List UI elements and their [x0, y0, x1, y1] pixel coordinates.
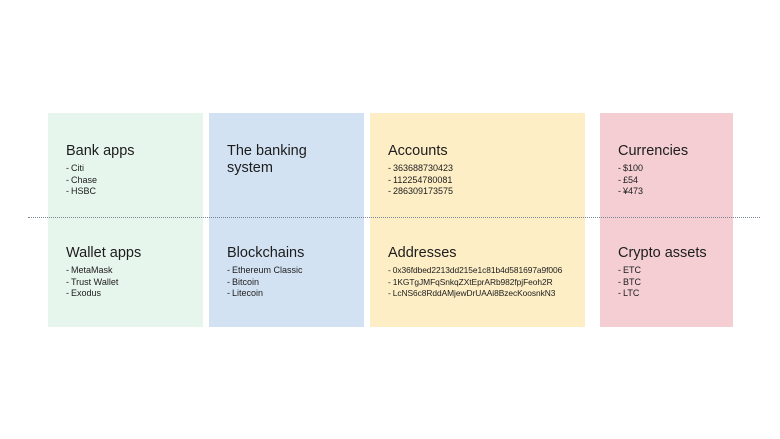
card-item-list: -0x36fdbed2213dd215e1c81b4d581697a9f006 …: [388, 265, 579, 300]
list-item-label: $100: [623, 163, 643, 173]
bullet-dash: -: [618, 265, 621, 277]
card-bank-apps: Bank apps -Citi -Chase -HSBC: [48, 113, 203, 217]
card-banking-system: The banking system: [209, 113, 364, 217]
bullet-dash: -: [618, 277, 621, 289]
card-blockchains: Blockchains -Ethereum Classic -Bitcoin -…: [209, 217, 364, 327]
bullet-dash: -: [66, 277, 69, 289]
list-item-label: 112254780081: [393, 175, 452, 185]
card-wallet-apps: Wallet apps -MetaMask -Trust Wallet -Exo…: [48, 217, 203, 327]
list-item: -¥473: [618, 186, 727, 198]
bullet-dash: -: [618, 186, 621, 198]
bullet-dash: -: [227, 277, 230, 289]
list-item: -Bitcoin: [227, 277, 358, 289]
card-title: Blockchains: [227, 245, 358, 262]
card-title: Bank apps: [66, 143, 197, 160]
list-item-label: Exodus: [71, 288, 101, 298]
list-item: -BTC: [618, 277, 727, 289]
list-item-label: 363688730423: [393, 163, 453, 173]
card-item-list: -MetaMask -Trust Wallet -Exodus: [66, 265, 197, 300]
bullet-dash: -: [227, 288, 230, 300]
list-item-label: LcNS6c8RddAMjewDrUAAi8BzecKoosnkN3: [393, 288, 556, 298]
list-item: -1KGTgJMFqSnkqZXtEprARb982fpjFeoh2R: [388, 277, 579, 289]
list-item: -Ethereum Classic: [227, 265, 358, 277]
bullet-dash: -: [66, 163, 69, 175]
bullet-dash: -: [388, 163, 391, 175]
card-addresses: Addresses -0x36fdbed2213dd215e1c81b4d581…: [370, 217, 585, 327]
bullet-dash: -: [618, 163, 621, 175]
list-item-label: HSBC: [71, 186, 96, 196]
bullet-dash: -: [388, 186, 391, 198]
bullet-dash: -: [66, 288, 69, 300]
list-item-label: MetaMask: [71, 265, 113, 275]
list-item: -ETC: [618, 265, 727, 277]
bullet-dash: -: [388, 277, 391, 289]
list-item-label: 1KGTgJMFqSnkqZXtEprARb982fpjFeoh2R: [393, 277, 553, 287]
list-item: -HSBC: [66, 186, 197, 198]
list-item-label: £54: [623, 175, 638, 185]
list-item-label: Citi: [71, 163, 84, 173]
list-item: -112254780081: [388, 175, 579, 187]
list-item-label: BTC: [623, 277, 641, 287]
row-divider: [28, 217, 760, 218]
bullet-dash: -: [618, 175, 621, 187]
card-title: Addresses: [388, 245, 579, 262]
bullet-dash: -: [388, 288, 391, 300]
card-item-list: -Citi -Chase -HSBC: [66, 163, 197, 198]
list-item: -£54: [618, 175, 727, 187]
list-item: -Chase: [66, 175, 197, 187]
list-item-label: ¥473: [623, 186, 643, 196]
card-title: Accounts: [388, 143, 579, 160]
list-item: -MetaMask: [66, 265, 197, 277]
list-item: -$100: [618, 163, 727, 175]
list-item-label: Ethereum Classic: [232, 265, 303, 275]
list-item-label: LTC: [623, 288, 639, 298]
comparison-diagram: Bank apps -Citi -Chase -HSBC The banking…: [0, 0, 780, 439]
bullet-dash: -: [66, 186, 69, 198]
bullet-dash: -: [388, 175, 391, 187]
bullet-dash: -: [66, 265, 69, 277]
list-item: -0x36fdbed2213dd215e1c81b4d581697a9f006: [388, 265, 579, 277]
bullet-dash: -: [618, 288, 621, 300]
list-item: -Trust Wallet: [66, 277, 197, 289]
card-item-list: -Ethereum Classic -Bitcoin -Litecoin: [227, 265, 358, 300]
bullet-dash: -: [388, 265, 391, 277]
list-item-label: Bitcoin: [232, 277, 259, 287]
list-item: -LTC: [618, 288, 727, 300]
list-item: -Citi: [66, 163, 197, 175]
list-item: -363688730423: [388, 163, 579, 175]
bullet-dash: -: [66, 175, 69, 187]
list-item-label: Litecoin: [232, 288, 263, 298]
card-crypto-assets: Crypto assets -ETC -BTC -LTC: [600, 217, 733, 327]
card-accounts: Accounts -363688730423 -112254780081 -28…: [370, 113, 585, 217]
list-item-label: 286309173575: [393, 186, 453, 196]
card-title: Wallet apps: [66, 245, 197, 262]
bullet-dash: -: [227, 265, 230, 277]
list-item-label: Chase: [71, 175, 97, 185]
card-item-list: -ETC -BTC -LTC: [618, 265, 727, 300]
card-item-list: -$100 -£54 -¥473: [618, 163, 727, 198]
list-item-label: Trust Wallet: [71, 277, 118, 287]
list-item: -Exodus: [66, 288, 197, 300]
list-item: -286309173575: [388, 186, 579, 198]
card-item-list: -363688730423 -112254780081 -28630917357…: [388, 163, 579, 198]
card-title: The banking system: [227, 143, 358, 177]
card-currencies: Currencies -$100 -£54 -¥473: [600, 113, 733, 217]
card-title: Crypto assets: [618, 245, 727, 262]
list-item: -LcNS6c8RddAMjewDrUAAi8BzecKoosnkN3: [388, 288, 579, 300]
list-item-label: 0x36fdbed2213dd215e1c81b4d581697a9f006: [393, 265, 563, 275]
card-title: Currencies: [618, 143, 727, 160]
list-item: -Litecoin: [227, 288, 358, 300]
list-item-label: ETC: [623, 265, 641, 275]
